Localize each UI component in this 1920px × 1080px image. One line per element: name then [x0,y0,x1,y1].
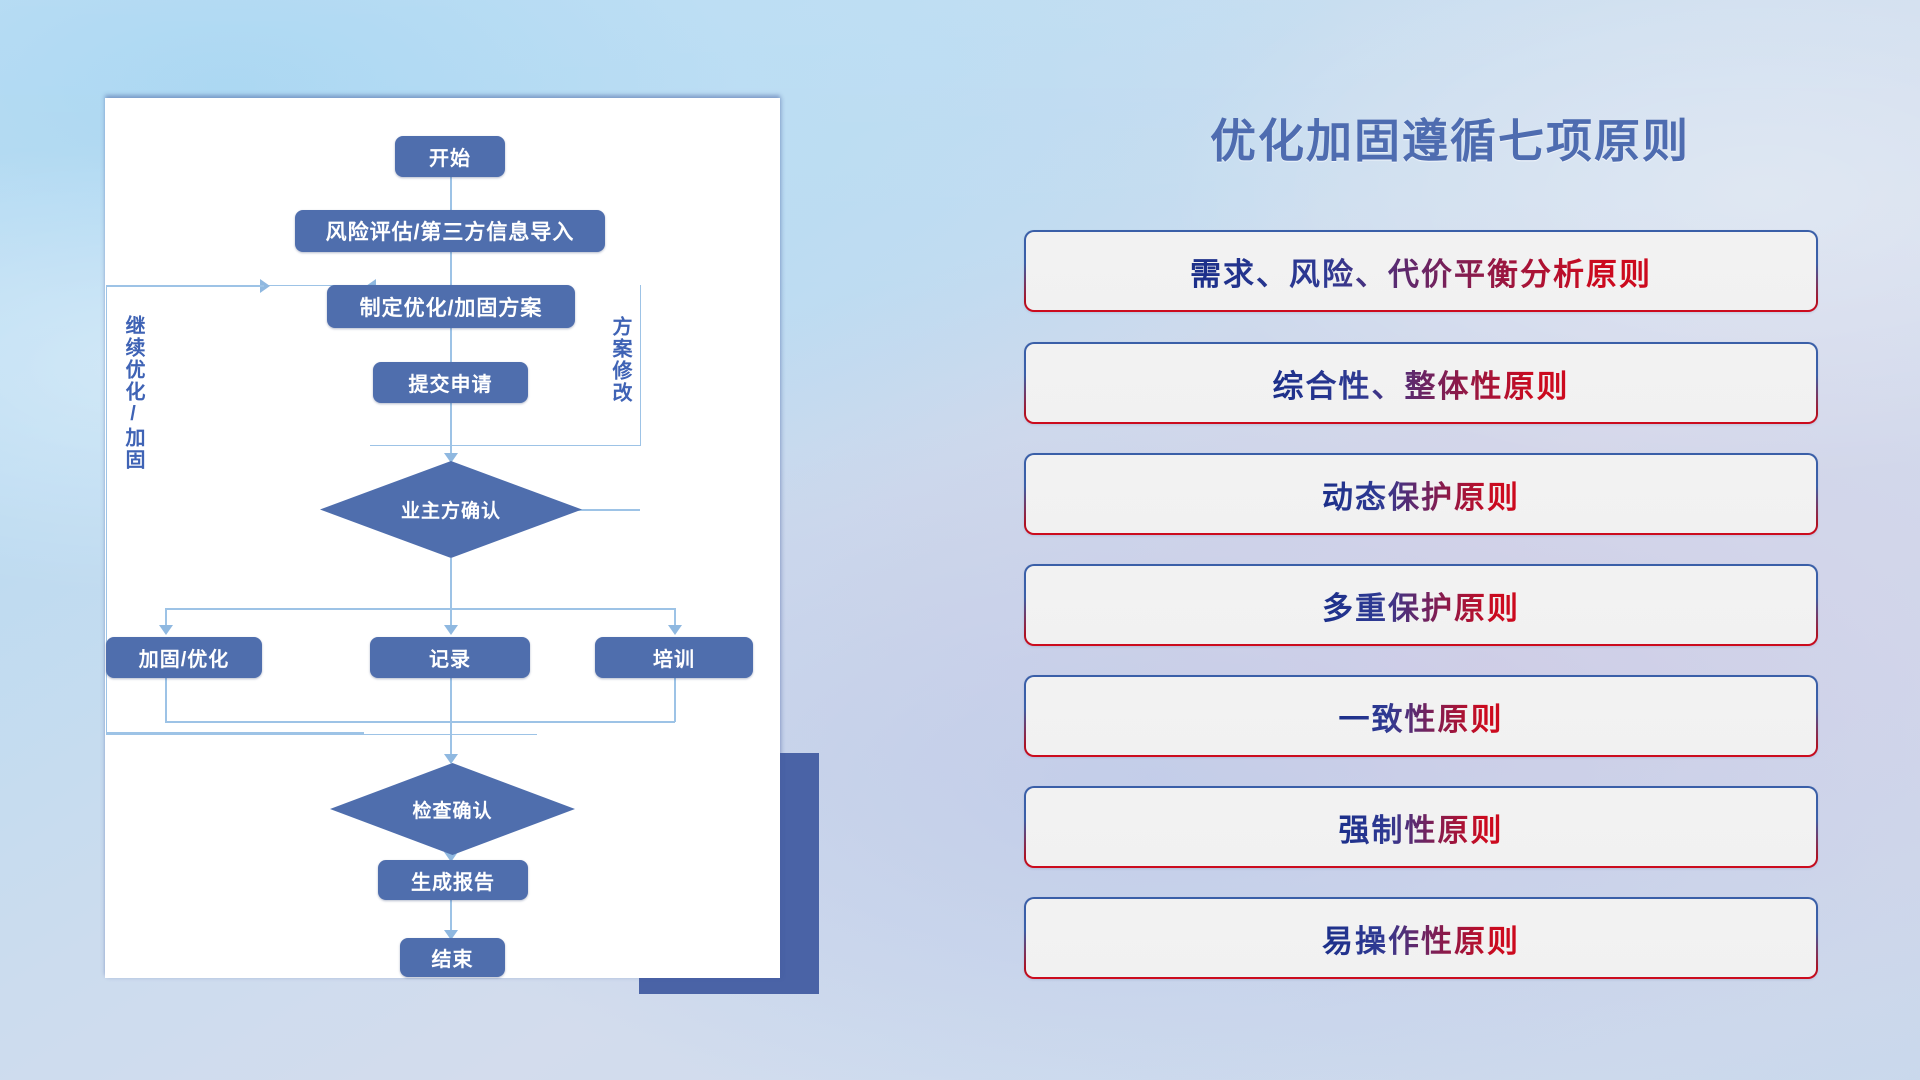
principle-item-4[interactable]: 多重保护原则 [1024,564,1818,646]
principles-panel: 优化加固遵循七项原则 需求、风险、代价平衡分析原则 综合性、整体性原则 动态保护… [1020,90,1880,1020]
connector-check-loop [106,732,364,734]
principle-label: 易操作性原则 [1322,916,1520,961]
flow-node-training[interactable]: 培训 [595,637,753,678]
principle-item-1[interactable]: 需求、风险、代价平衡分析原则 [1024,230,1818,312]
edge-label-continue-optimize: 继续优化/加固 [122,315,143,471]
principle-item-6[interactable]: 强制性原则 [1024,786,1818,868]
arrow-merge-check [444,754,458,764]
principle-label: 一致性原则 [1339,694,1504,739]
principle-label: 综合性、整体性原则 [1273,361,1570,406]
connector-fanout-bar [165,608,675,610]
principle-item-2[interactable]: 综合性、整体性原则 [1024,342,1818,424]
panel-title: 优化加固遵循七项原则 [1020,105,1880,171]
arrow-fan-left [159,625,173,635]
principle-label: 多重保护原则 [1322,583,1520,628]
principle-item-5[interactable]: 一致性原则 [1024,675,1818,757]
edge-label-plan-revision: 方案修改 [609,316,630,404]
flow-node-report[interactable]: 生成报告 [378,860,528,900]
arrow-fan-mid [444,625,458,635]
principle-label: 需求、风险、代价平衡分析原则 [1190,249,1652,294]
arrow-fan-right [668,625,682,635]
flow-node-reinforce[interactable]: 加固/优化 [106,637,262,678]
connector-merge-check [450,678,452,763]
flow-node-record[interactable]: 记录 [370,637,530,678]
principle-item-7[interactable]: 易操作性原则 [1024,897,1818,979]
flowchart-card: 开始 风险评估/第三方信息导入 制定优化/加固方案 提交申请 业主方确认 加固/… [105,98,780,978]
connector-continue-plan [106,285,264,287]
flow-node-plan[interactable]: 制定优化/加固方案 [327,285,575,328]
flow-node-risk-assessment[interactable]: 风险评估/第三方信息导入 [295,210,605,252]
flow-node-start[interactable]: 开始 [395,136,505,177]
flow-node-submit[interactable]: 提交申请 [373,362,528,403]
principle-item-3[interactable]: 动态保护原则 [1024,453,1818,535]
connector-merge-left [165,678,167,722]
flow-node-check-confirm[interactable]: 检查确认 [330,763,575,855]
principle-label: 动态保护原则 [1322,472,1520,517]
connector-merge-bar [165,721,675,723]
connector-merge-right [674,678,676,722]
flow-node-end[interactable]: 结束 [400,938,505,977]
connector-owner-fan [450,558,452,608]
principle-label: 强制性原则 [1339,805,1504,850]
